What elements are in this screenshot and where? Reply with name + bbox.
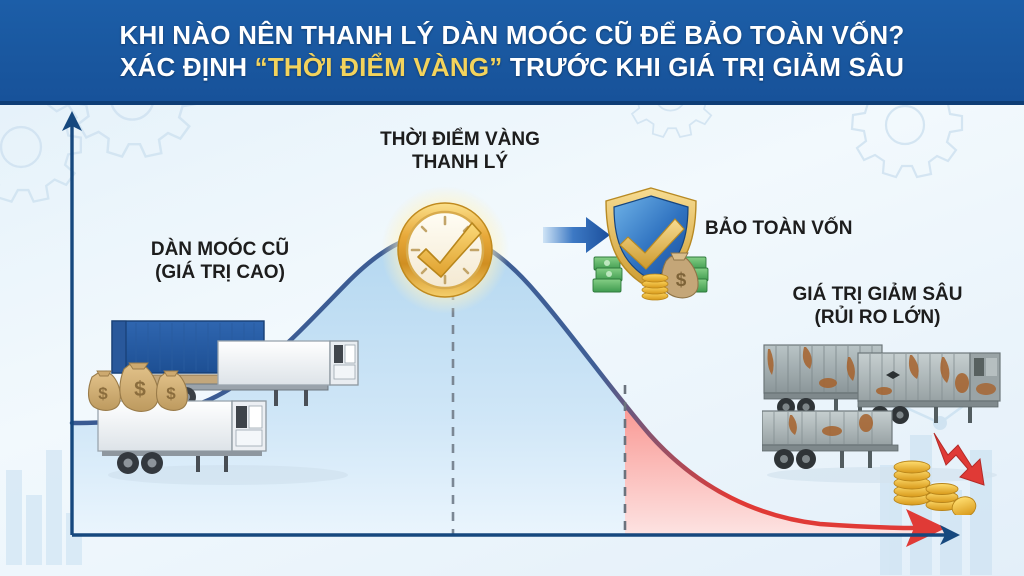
svg-text:$: $: [98, 384, 108, 403]
chart-canvas: $ $ $: [0, 105, 1024, 576]
infographic-root: KHI NÀO NÊN THANH LÝ DÀN MOÓC CŨ ĐỂ BẢO …: [0, 0, 1024, 576]
header-banner: KHI NÀO NÊN THANH LÝ DÀN MOÓC CŨ ĐỂ BẢO …: [0, 0, 1024, 105]
header-line2-suffix: TRƯỚC KHI GIÁ TRỊ GIẢM SÂU: [502, 52, 904, 82]
svg-text:$: $: [676, 270, 687, 291]
label-preserve-line1: BẢO TOÀN VỐN: [705, 217, 935, 240]
svg-text:$: $: [134, 378, 146, 401]
label-golden-line2: THANH LÝ: [335, 151, 585, 174]
header-title-line-1: KHI NÀO NÊN THANH LÝ DÀN MOÓC CŨ ĐỂ BẢO …: [120, 19, 905, 51]
blue-shield-check-money-icon: $: [592, 183, 710, 303]
label-old-fleet-line1: DÀN MOÓC CŨ: [95, 238, 345, 261]
header-title-line-2: XÁC ĐỊNH “THỜI ĐIỂM VÀNG” TRƯỚC KHI GIÁ …: [120, 51, 904, 83]
svg-text:$: $: [166, 384, 176, 403]
label-golden-moment: THỜI ĐIỂM VÀNG THANH LÝ: [335, 128, 585, 174]
header-line2-prefix: XÁC ĐỊNH: [120, 52, 255, 82]
gold-coin-stack-icon: [888, 425, 998, 515]
red-down-trend-arrow-icon: [934, 433, 984, 485]
money-bag-icon: $ $ $: [84, 351, 189, 413]
label-old-fleet-line2: (GIÁ TRỊ CAO): [95, 261, 345, 284]
label-old-fleet: DÀN MOÓC CŨ (GIÁ TRỊ CAO): [95, 238, 345, 284]
label-preserve-capital: BẢO TOÀN VỐN: [705, 217, 935, 240]
label-golden-line1: THỜI ĐIỂM VÀNG: [335, 128, 585, 151]
gold-clock-check-icon: [380, 185, 510, 315]
label-deep-drop-line2: (RỦI RO LỚN): [745, 306, 1010, 329]
label-deep-drop-line1: GIÁ TRỊ GIẢM SÂU: [745, 283, 1010, 306]
header-line2-highlight: “THỜI ĐIỂM VÀNG”: [255, 52, 503, 82]
label-deep-drop: GIÁ TRỊ GIẢM SÂU (RỦI RO LỚN): [745, 283, 1010, 329]
